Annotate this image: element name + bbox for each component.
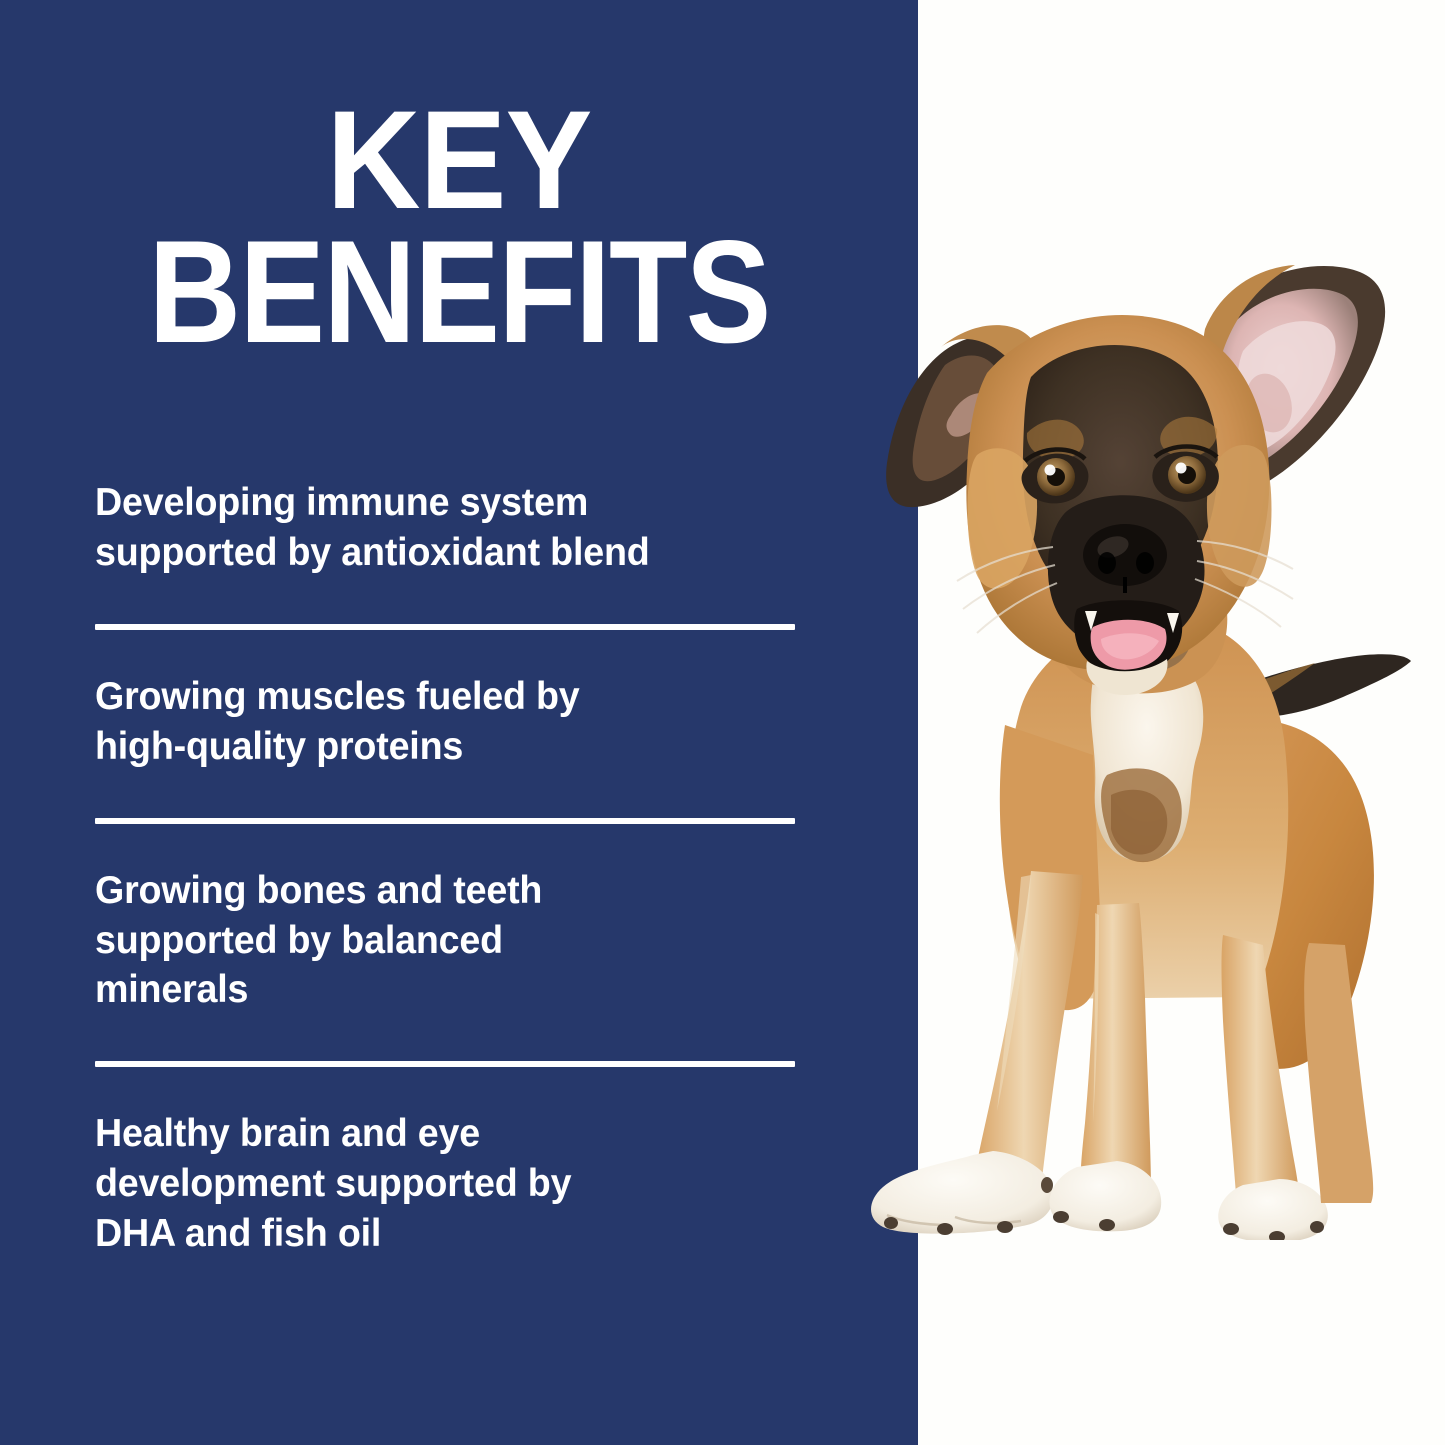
dog-body <box>1000 615 1374 1069</box>
dog-front-right-leg <box>1049 903 1161 1231</box>
benefit-text-2: Growing muscles fueled by high-quality p… <box>95 672 790 772</box>
benefit-item-3: Growing bones and teeth supported by bal… <box>95 866 815 1016</box>
spacer <box>95 772 815 818</box>
dog-hind-left-leg <box>1304 943 1373 1203</box>
dog-eye-right <box>1152 447 1219 502</box>
dog-tail <box>1241 654 1411 717</box>
spacer <box>95 578 815 624</box>
dog-whiskers <box>957 541 1293 633</box>
benefit-text-3: Growing bones and teeth supported by bal… <box>95 866 790 1016</box>
dog-hind-right-leg <box>1218 935 1328 1240</box>
spacer <box>95 630 815 672</box>
dog-chest-blaze <box>1091 655 1204 862</box>
benefit-item-2: Growing muscles fueled by high-quality p… <box>95 672 815 772</box>
puppy-photo <box>845 255 1445 1240</box>
spacer <box>95 824 815 866</box>
dog-ear-right-upright <box>1202 265 1385 491</box>
benefits-list: Developing immune system supported by an… <box>95 478 815 1259</box>
benefit-text-4: Healthy brain and eye development suppor… <box>95 1109 790 1259</box>
spacer <box>95 1015 815 1061</box>
dog-collar <box>1054 572 1210 647</box>
dog-eye-left <box>1022 449 1089 503</box>
benefit-item-1: Developing immune system supported by an… <box>95 478 815 578</box>
benefit-item-4: Healthy brain and eye development suppor… <box>95 1109 815 1259</box>
dog-head <box>957 315 1293 695</box>
key-benefits-panel: KEY BENEFITS Developing immune system su… <box>0 0 1445 1445</box>
dog-neck <box>1048 539 1227 693</box>
spacer <box>95 1067 815 1109</box>
benefit-text-1: Developing immune system supported by an… <box>95 478 790 578</box>
